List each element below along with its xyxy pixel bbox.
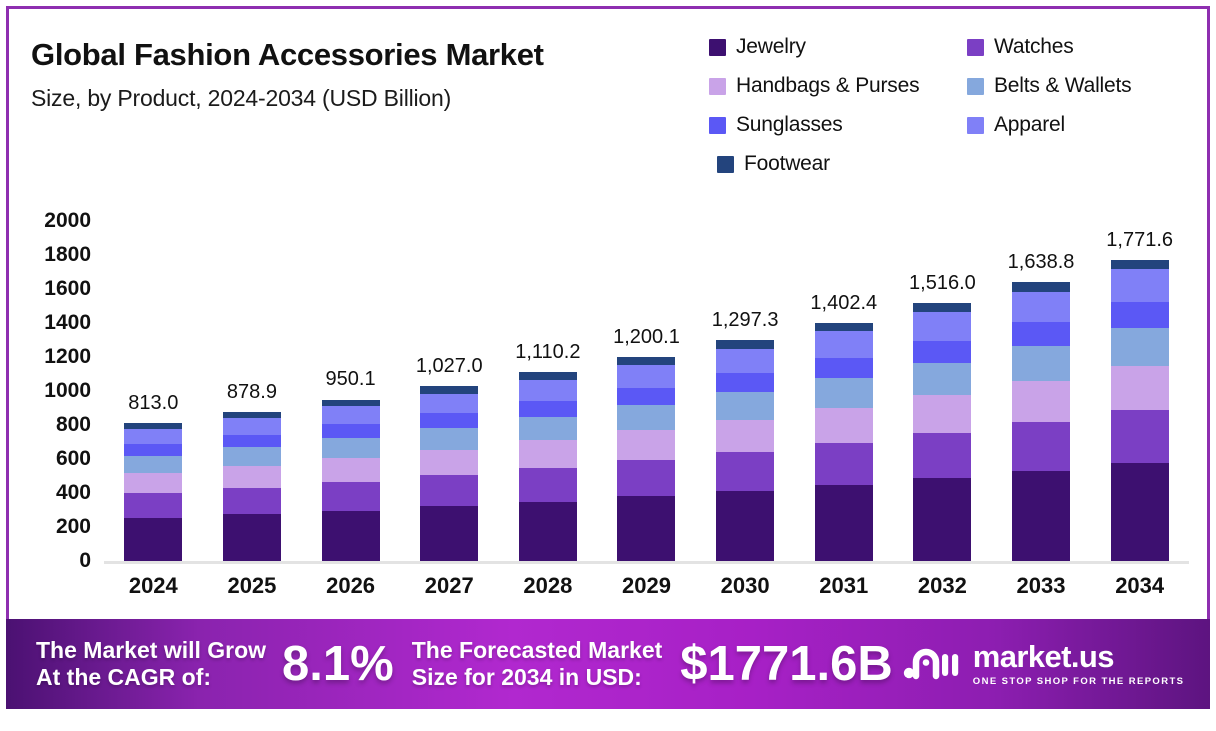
bar-column[interactable]: 1,771.6 [1090,221,1189,561]
legend-swatch-icon [709,117,726,134]
x-axis-tick-label: 2028 [499,573,598,599]
legend-row: Footwear [709,152,1199,176]
bar-column[interactable]: 1,027.0 [400,221,499,561]
y-axis-tick-label: 0 [9,549,91,573]
bar-total-label: 1,110.2 [499,341,598,364]
cagr-label-line1: The Market will Grow [36,637,266,664]
bar-segment-handbags-purses[interactable] [1012,381,1070,422]
bar-stack[interactable] [223,412,281,561]
legend-item-belts-wallets[interactable]: Belts & Wallets [967,74,1199,98]
bar-segment-footwear[interactable] [815,323,873,332]
bar-segment-sunglasses[interactable] [124,444,182,456]
bar-segment-handbags-purses[interactable] [322,458,380,481]
bar-column[interactable]: 1,516.0 [893,221,992,561]
bar-segment-footwear[interactable] [913,303,971,312]
legend-item-watches[interactable]: Watches [967,35,1199,59]
legend-row: Handbags & PursesBelts & Wallets [709,74,1199,98]
bar-segment-handbags-purses[interactable] [913,395,971,433]
bar-segment-belts-wallets[interactable] [617,405,675,431]
bar-segment-watches[interactable] [913,433,971,478]
bar-segment-belts-wallets[interactable] [1111,328,1169,366]
bar-segment-belts-wallets[interactable] [124,456,182,473]
bar-segment-apparel[interactable] [124,429,182,444]
bar-segment-sunglasses[interactable] [913,341,971,363]
bar-column[interactable]: 813.0 [104,221,203,561]
y-axis-tick-label: 800 [9,413,91,437]
bar-segment-watches[interactable] [815,443,873,485]
x-axis-tick-label: 2032 [893,573,992,599]
bar-segment-belts-wallets[interactable] [815,378,873,408]
legend-label: Handbags & Purses [736,74,919,98]
bar-segment-apparel[interactable] [815,331,873,357]
bar-segment-apparel[interactable] [913,312,971,340]
y-axis-tick-label: 1800 [9,243,91,267]
bar-segment-handbags-purses[interactable] [420,450,478,475]
x-axis-tick-label: 2025 [203,573,302,599]
x-axis-tick-label: 2026 [301,573,400,599]
bar-segment-footwear[interactable] [1111,260,1169,269]
chart-legend: JewelryWatchesHandbags & PursesBelts & W… [709,35,1199,191]
bar-segment-handbags-purses[interactable] [716,420,774,452]
bar-segment-sunglasses[interactable] [815,358,873,378]
bar-segment-sunglasses[interactable] [716,373,774,392]
market-us-logo-text: market.us ONE STOP SHOP FOR THE REPORTS [973,641,1185,687]
y-axis-tick-label: 600 [9,447,91,471]
legend-row: JewelryWatches [709,35,1199,59]
bar-segment-apparel[interactable] [519,380,577,401]
legend-item-handbags-purses[interactable]: Handbags & Purses [709,74,967,98]
bar-column[interactable]: 950.1 [301,221,400,561]
forecast-size-value: $1771.6B [680,636,893,692]
bar-column[interactable]: 1,638.8 [992,221,1091,561]
bar-total-label: 1,027.0 [400,355,499,378]
legend-swatch-icon [967,39,984,56]
bar-total-label: 1,297.3 [696,309,795,332]
market-us-logo[interactable]: market.us ONE STOP SHOP FOR THE REPORTS [901,641,1185,687]
bar-column[interactable]: 1,110.2 [499,221,598,561]
forecast-size-label-line1: The Forecasted Market [412,637,663,664]
bar-segment-jewelry[interactable] [716,491,774,561]
bar-segment-jewelry[interactable] [223,514,281,561]
bar-segment-sunglasses[interactable] [1111,302,1169,328]
x-axis-tick-label: 2030 [696,573,795,599]
logo-tagline: ONE STOP SHOP FOR THE REPORTS [973,676,1185,687]
legend-swatch-icon [967,117,984,134]
legend-label: Belts & Wallets [994,74,1131,98]
bar-segment-jewelry[interactable] [1111,463,1169,561]
bar-total-label: 1,402.4 [794,292,893,315]
bar-total-label: 950.1 [301,368,400,391]
bar-total-label: 878.9 [203,381,302,404]
bar-segment-footwear[interactable] [519,372,577,380]
y-axis-tick-label: 1400 [9,311,91,335]
bar-stack[interactable] [322,400,380,561]
legend-swatch-icon [967,78,984,95]
bar-segment-watches[interactable] [716,452,774,491]
cagr-label-line2: At the CAGR of: [36,664,266,691]
bar-segment-sunglasses[interactable] [223,435,281,448]
bar-total-label: 1,200.1 [597,326,696,349]
bar-segment-jewelry[interactable] [1012,471,1070,561]
bar-segment-watches[interactable] [617,460,675,496]
x-axis-tick-label: 2029 [597,573,696,599]
bar-segment-jewelry[interactable] [420,506,478,561]
chart-plot-area: 2000180016001400120010008006004002000 81… [9,221,1207,611]
bar-segment-watches[interactable] [124,493,182,518]
legend-swatch-icon [709,39,726,56]
bar-segment-jewelry[interactable] [519,502,577,562]
legend-swatch-icon [709,78,726,95]
logo-name: market.us [973,641,1185,672]
legend-label: Footwear [744,152,830,176]
x-axis-line [104,561,1189,564]
bar-segment-jewelry[interactable] [322,511,380,562]
bar-stack[interactable] [716,340,774,561]
infographic-root: Global Fashion Accessories Market Size, … [0,0,1216,731]
bar-segment-footwear[interactable] [322,400,380,407]
y-axis-tick-label: 2000 [9,209,91,233]
bar-total-label: 1,516.0 [893,272,992,295]
y-axis-tick-label: 1200 [9,345,91,369]
bar-stack[interactable] [815,323,873,561]
bar-segment-sunglasses[interactable] [322,424,380,438]
bar-stack[interactable] [124,423,182,561]
x-axis: 2024202520262027202820292030203120322033… [104,573,1189,609]
bar-segment-jewelry[interactable] [617,496,675,561]
bar-segment-watches[interactable] [322,482,380,511]
bar-segment-handbags-purses[interactable] [124,473,182,493]
bar-stack[interactable] [420,386,478,561]
forecast-size-label-line2: Size for 2034 in USD: [412,664,663,691]
legend-label: Watches [994,35,1074,59]
y-axis-tick-label: 1000 [9,379,91,403]
x-axis-tick-label: 2033 [992,573,1091,599]
x-axis-tick-label: 2024 [104,573,203,599]
bar-segment-belts-wallets[interactable] [322,438,380,458]
bar-column[interactable]: 1,200.1 [597,221,696,561]
legend-item-jewelry[interactable]: Jewelry [709,35,967,59]
bar-segment-belts-wallets[interactable] [223,447,281,466]
bar-column[interactable]: 878.9 [203,221,302,561]
legend-row: SunglassesApparel [709,113,1199,137]
bar-total-label: 1,638.8 [992,251,1091,274]
bar-segment-handbags-purses[interactable] [1111,366,1169,410]
bar-segment-sunglasses[interactable] [519,401,577,417]
bar-total-label: 1,771.6 [1090,229,1189,252]
bar-segment-footwear[interactable] [420,386,478,393]
cagr-value: 8.1% [282,636,394,692]
x-axis-tick-label: 2027 [400,573,499,599]
legend-item-sunglasses[interactable]: Sunglasses [709,113,967,137]
bar-segment-belts-wallets[interactable] [1012,346,1070,381]
bar-segment-watches[interactable] [1111,410,1169,463]
bar-segment-watches[interactable] [420,475,478,506]
y-axis-tick-label: 400 [9,481,91,505]
bar-stack[interactable] [519,372,577,561]
bar-segment-belts-wallets[interactable] [420,428,478,450]
bar-segment-apparel[interactable] [223,418,281,434]
bar-segment-apparel[interactable] [420,394,478,413]
legend-label: Jewelry [736,35,806,59]
legend-swatch-icon [717,156,734,173]
bar-column[interactable]: 1,402.4 [794,221,893,561]
bar-segment-handbags-purses[interactable] [617,430,675,460]
bar-stack[interactable] [1111,260,1169,561]
page-title: Global Fashion Accessories Market [31,37,544,73]
x-axis-tick-label: 2034 [1090,573,1189,599]
y-axis-tick-label: 200 [9,515,91,539]
legend-label: Apparel [994,113,1065,137]
bar-stack[interactable] [1012,282,1070,561]
y-axis-tick-label: 1600 [9,277,91,301]
page-subtitle: Size, by Product, 2024-2034 (USD Billion… [31,85,451,112]
bar-segment-belts-wallets[interactable] [519,417,577,441]
bar-segment-apparel[interactable] [716,349,774,373]
bar-segment-handbags-purses[interactable] [815,408,873,443]
bar-segment-watches[interactable] [1012,422,1070,471]
bar-segment-sunglasses[interactable] [1012,322,1070,346]
bars-area: 813.0878.9950.11,027.01,110.21,200.11,29… [104,221,1189,561]
bar-segment-apparel[interactable] [1111,269,1169,302]
chart-card: Global Fashion Accessories Market Size, … [6,6,1210,619]
bar-segment-handbags-purses[interactable] [519,440,577,467]
bar-segment-belts-wallets[interactable] [913,363,971,395]
bar-segment-sunglasses[interactable] [617,388,675,405]
bar-segment-apparel[interactable] [322,406,380,424]
bottom-banner: The Market will Grow At the CAGR of: 8.1… [6,619,1210,709]
legend-item-apparel[interactable]: Apparel [967,113,1199,137]
bar-segment-apparel[interactable] [617,365,675,387]
bar-segment-footwear[interactable] [716,340,774,349]
legend-item-footwear[interactable]: Footwear [709,152,1199,176]
cagr-label: The Market will Grow At the CAGR of: [36,637,266,691]
legend-label: Sunglasses [736,113,843,137]
market-us-logo-mark [901,642,963,687]
bar-column[interactable]: 1,297.3 [696,221,795,561]
forecast-size-label: The Forecasted Market Size for 2034 in U… [412,637,663,691]
bar-stack[interactable] [913,303,971,561]
bar-segment-footwear[interactable] [1012,282,1070,291]
bar-stack[interactable] [617,357,675,561]
bar-total-label: 813.0 [104,392,203,415]
bar-segment-footwear[interactable] [617,357,675,365]
bar-segment-watches[interactable] [519,468,577,502]
x-axis-tick-label: 2031 [794,573,893,599]
bar-segment-sunglasses[interactable] [420,413,478,428]
bar-segment-handbags-purses[interactable] [223,466,281,488]
bar-segment-jewelry[interactable] [913,478,971,561]
y-axis: 2000180016001400120010008006004002000 [9,221,91,561]
bar-segment-apparel[interactable] [1012,292,1070,323]
bar-segment-belts-wallets[interactable] [716,392,774,420]
bar-segment-jewelry[interactable] [124,518,182,561]
bar-segment-watches[interactable] [223,488,281,515]
bar-segment-jewelry[interactable] [815,485,873,561]
